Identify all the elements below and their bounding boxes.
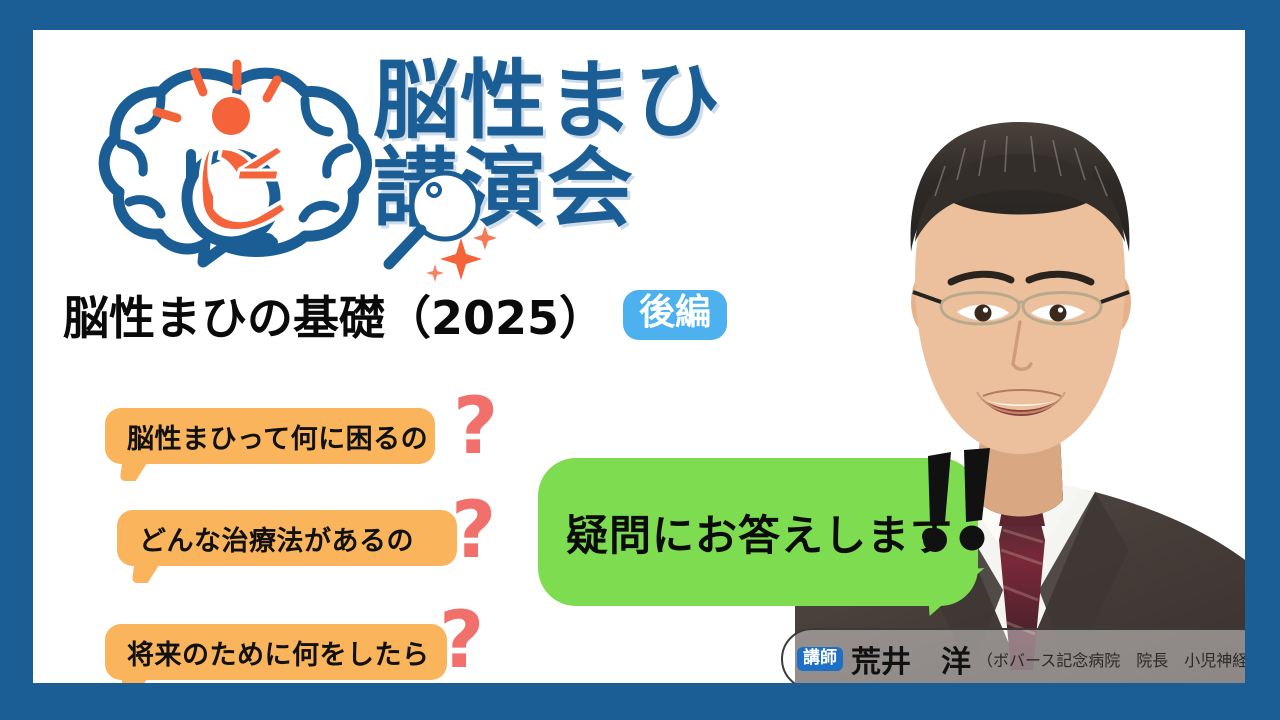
subtitle-row: 脳性まひの基礎（2025） 後編 xyxy=(63,282,727,348)
bubble-tail-3 xyxy=(120,677,149,683)
question-bubble-3: 将来のために何をしたら xyxy=(105,624,447,680)
question-mark-icon-1: ? xyxy=(453,388,498,466)
question-bubble-2-text: どんな治療法があるの xyxy=(139,519,414,558)
question-bubble-1: 脳性まひって何に困るの xyxy=(105,408,435,464)
lecturer-badge: 講師 xyxy=(797,647,843,671)
answer-bubble-tail xyxy=(927,568,988,616)
magnifying-glass-icon xyxy=(373,160,503,290)
logo-block: 脳性まひ 講演会 xyxy=(73,48,793,283)
question-mark-icon-2: ? xyxy=(451,492,496,570)
poster-outer-frame: 脳性まひ 講演会 脳性まひの基礎（2025） 後編 xyxy=(0,0,1280,720)
brain-wheelchair-icon xyxy=(91,56,381,271)
double-exclamation-icon xyxy=(918,448,1008,558)
speaker-affiliation: （ボバース記念病院 院長 小児神経科） xyxy=(977,647,1245,671)
page-title: 脳性まひの基礎（2025） xyxy=(63,282,605,348)
logo-title-line-1: 脳性まひ xyxy=(373,58,793,146)
edition-badge: 後編 xyxy=(623,290,727,340)
bubble-tail-2 xyxy=(132,563,161,583)
question-bubble-2: どんな治療法があるの xyxy=(117,510,457,566)
speaker-name-bar: 講師 荒井 洋 （ボバース記念病院 院長 小児神経科） xyxy=(781,628,1245,683)
question-bubble-3-text: 将来のために何をしたら xyxy=(127,633,430,672)
answer-bubble-text: 疑問にお答えします xyxy=(566,502,953,563)
answer-bubble: 疑問にお答えします xyxy=(538,458,978,606)
speaker-name: 荒井 洋 xyxy=(851,637,971,681)
question-bubble-1-text: 脳性まひって何に困るの xyxy=(127,417,428,456)
bubble-tail-1 xyxy=(120,461,149,481)
poster-white-card: 脳性まひ 講演会 脳性まひの基礎（2025） 後編 xyxy=(33,30,1245,683)
